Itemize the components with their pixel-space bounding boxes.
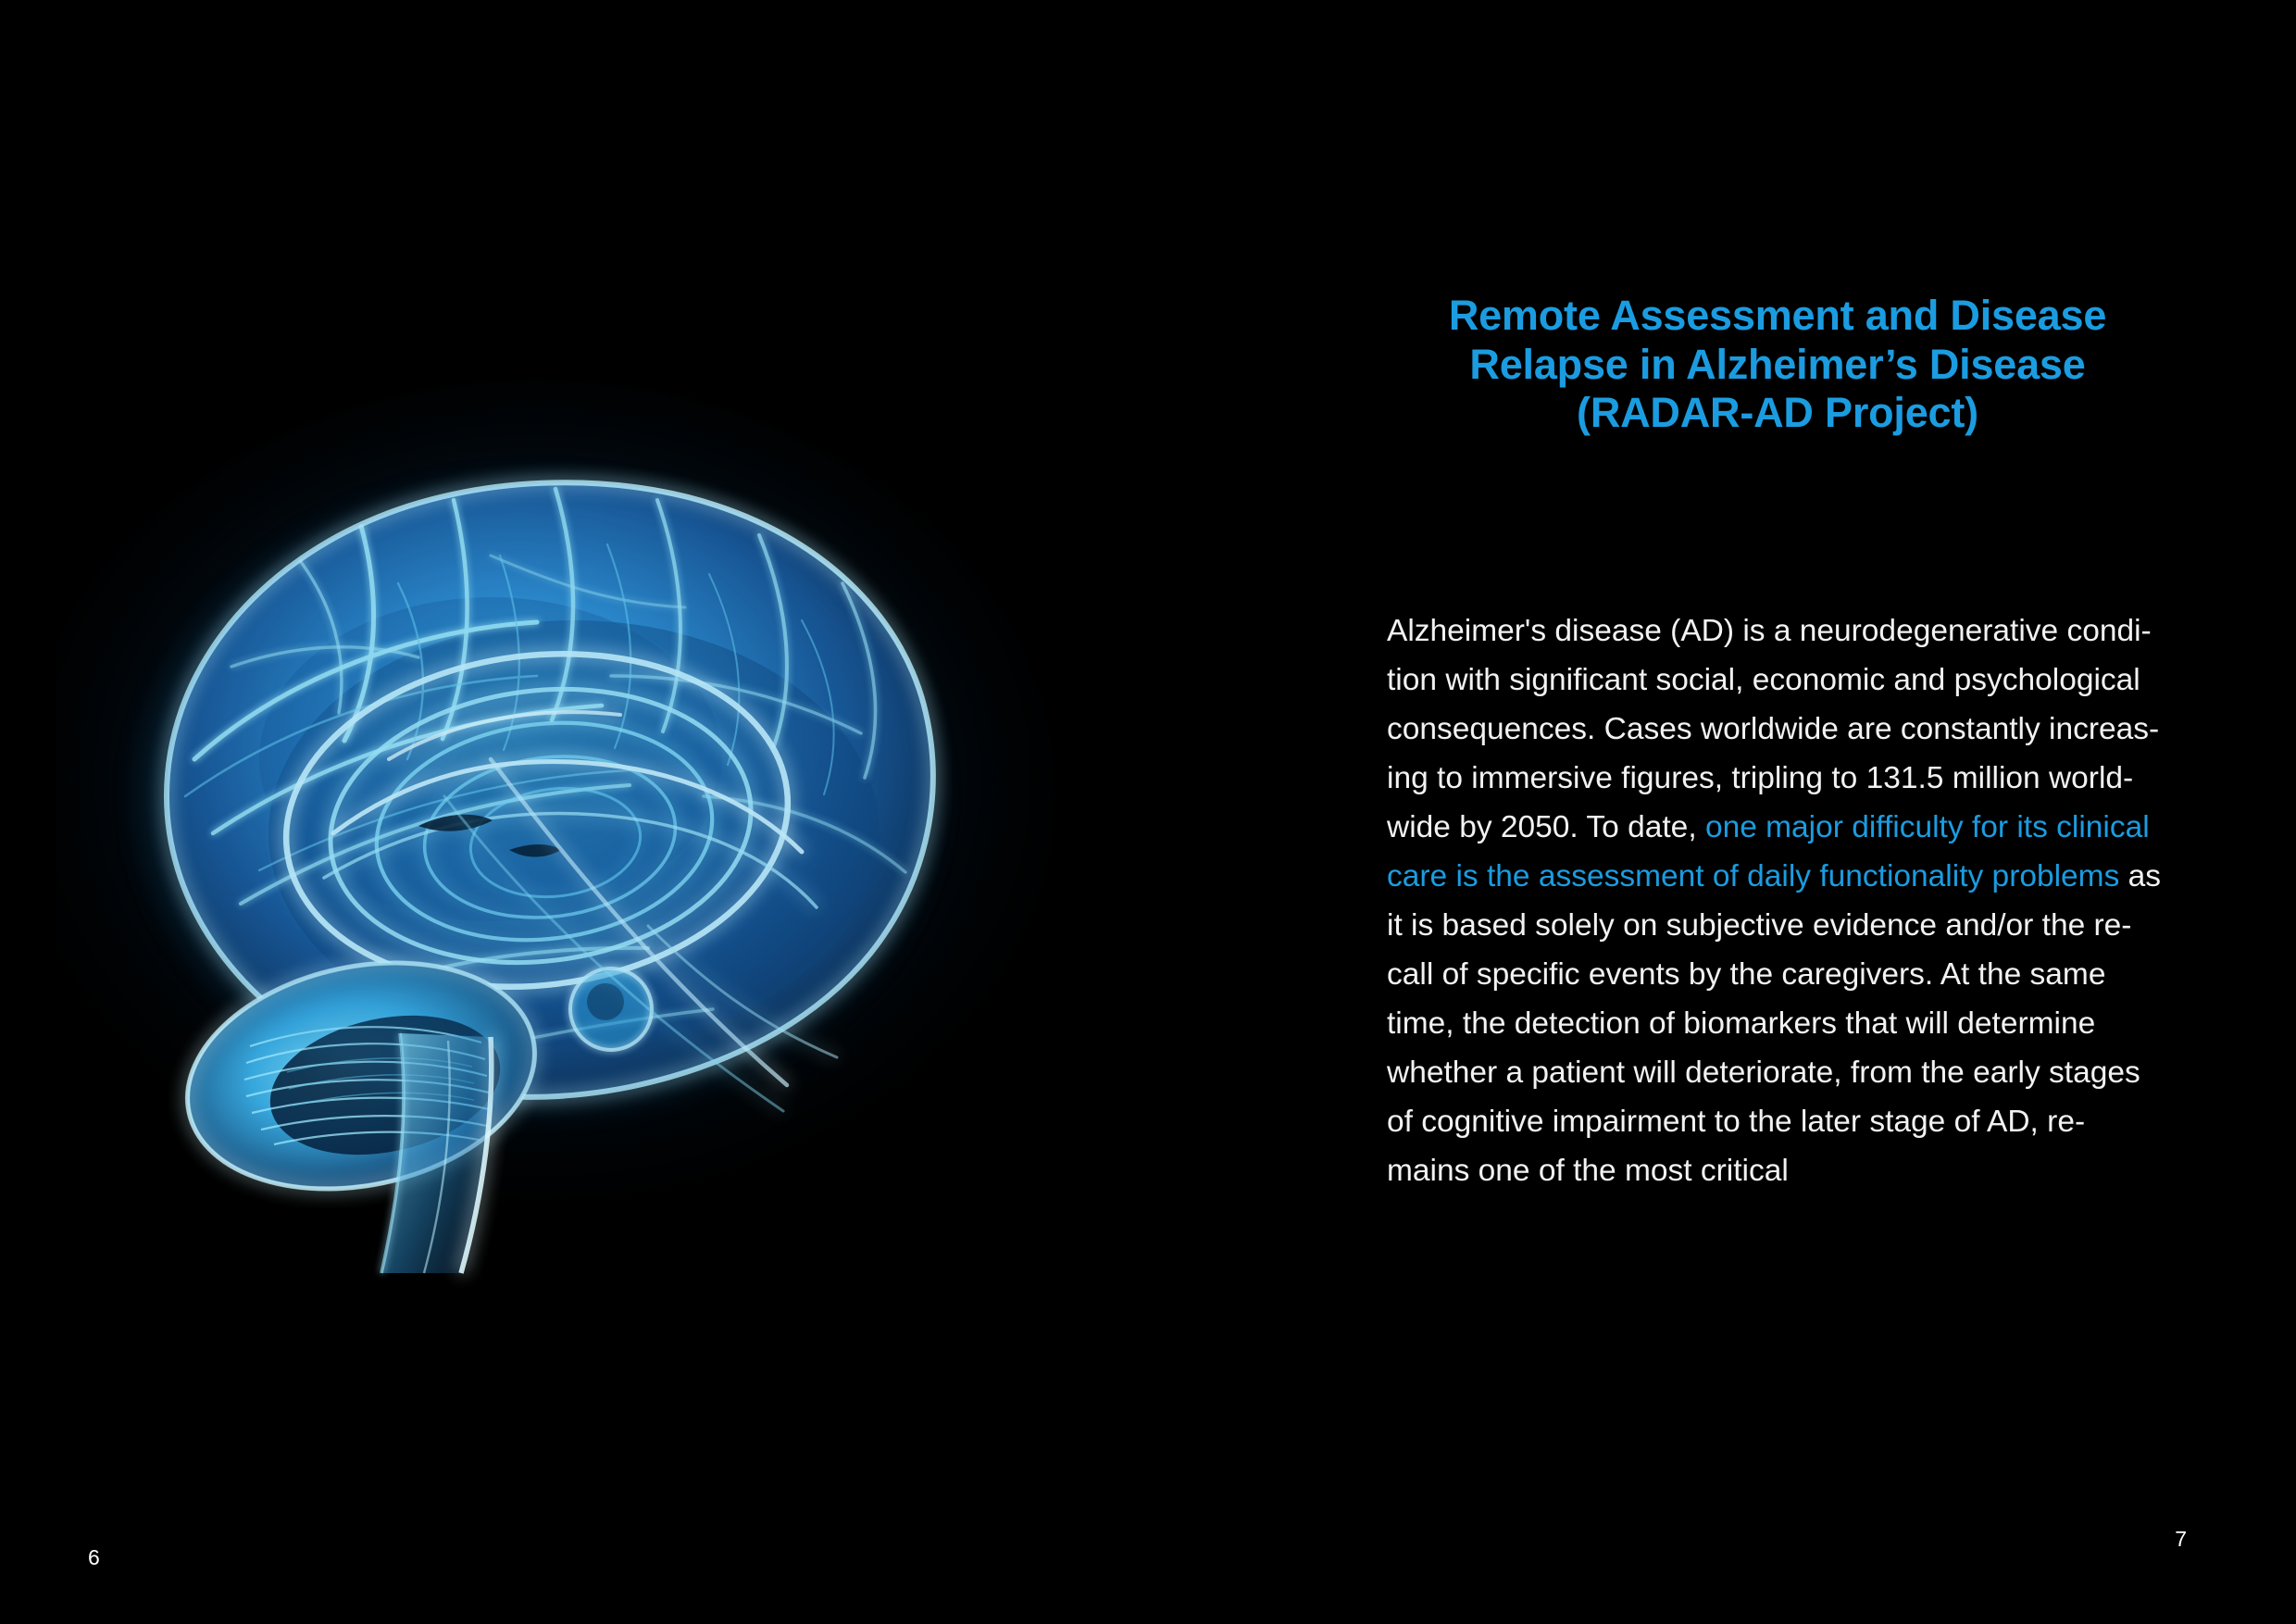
page-title: Remote Assessment and Disease Relapse in… <box>1379 292 2176 438</box>
page-title-line-2: Relapse in Alzheimer’s Disease <box>1379 341 2176 390</box>
body-text-plain: mains one of the most critical <box>1387 1154 1789 1188</box>
page-number-left: 6 <box>88 1545 100 1570</box>
body-line: ing to immersive figures, tripling to 13… <box>1387 754 2190 803</box>
body-text-plain: tion with significant social, economic a… <box>1387 663 2140 697</box>
body-line: tion with significant social, economic a… <box>1387 656 2190 705</box>
body-text-plain: Alzheimer's disease (AD) is a neurodegen… <box>1387 614 2152 648</box>
body-text-plain: consequences. Cases worldwide are consta… <box>1387 712 2159 746</box>
body-text-plain: it is based solely on subjective evidenc… <box>1387 908 2131 943</box>
page-title-line-1: Remote Assessment and Disease <box>1379 292 2176 341</box>
brain-outer-bloom <box>139 481 935 1111</box>
body-text-plain: of cognitive impairment to the later sta… <box>1387 1105 2085 1139</box>
body-line: of cognitive impairment to the later sta… <box>1387 1097 2190 1146</box>
right-page: Remote Assessment and Disease Relapse in… <box>1148 0 2296 1624</box>
left-page: 6 <box>0 0 1148 1624</box>
body-line: wide by 2050. To date, one major difficu… <box>1387 803 2190 852</box>
body-text-highlighted: care is the assessment of daily function… <box>1387 859 2119 893</box>
body-line: Alzheimer's disease (AD) is a neurodegen… <box>1387 606 2190 656</box>
body-text-plain: wide by 2050. To date, <box>1387 810 1705 844</box>
body-text-plain: time, the detection of biomarkers that w… <box>1387 1006 2095 1041</box>
body-text-plain: as <box>2119 859 2161 893</box>
body-line: it is based solely on subjective evidenc… <box>1387 901 2190 950</box>
body-line: consequences. Cases worldwide are consta… <box>1387 705 2190 754</box>
body-text-plain: call of specific events by the caregiver… <box>1387 957 2105 992</box>
body-line: mains one of the most critical <box>1387 1146 2190 1195</box>
brain-svg <box>56 278 1092 1296</box>
page-title-line-3: (RADAR-AD Project) <box>1379 389 2176 438</box>
body-paragraph: Alzheimer's disease (AD) is a neurodegen… <box>1387 606 2190 1195</box>
page-number-right: 7 <box>2175 1527 2187 1552</box>
body-line: whether a patient will deteriorate, from… <box>1387 1048 2190 1097</box>
book-spread: 6 Remote Assessment and Disease Relapse … <box>0 0 2296 1624</box>
body-text-plain: whether a patient will deteriorate, from… <box>1387 1056 2140 1090</box>
body-line: call of specific events by the caregiver… <box>1387 950 2190 999</box>
body-line: care is the assessment of daily function… <box>1387 852 2190 901</box>
body-paragraph-text: Alzheimer's disease (AD) is a neurodegen… <box>1387 606 2190 1195</box>
brain-xray-illustration <box>56 278 1092 1296</box>
body-text-highlighted: one major difficulty for its clinical <box>1705 810 2150 844</box>
body-line: time, the detection of biomarkers that w… <box>1387 999 2190 1048</box>
body-text-plain: ing to immersive figures, tripling to 13… <box>1387 761 2133 795</box>
